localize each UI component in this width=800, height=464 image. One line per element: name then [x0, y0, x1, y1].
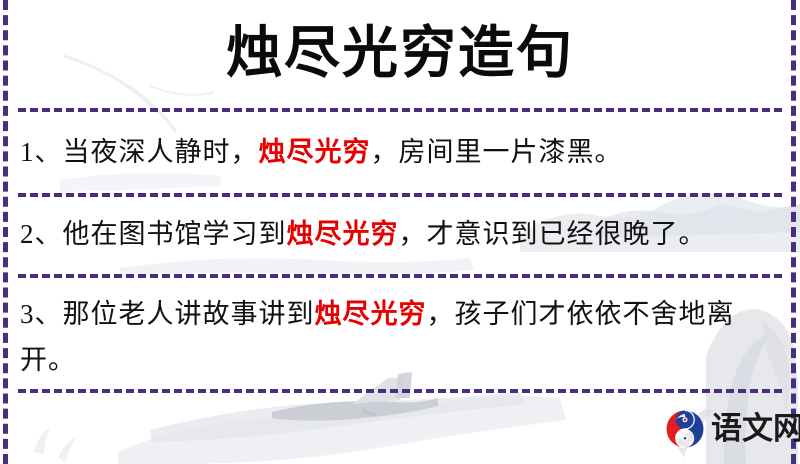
keyword-highlight-3: 烛尽光穷: [315, 299, 427, 329]
page-title: 烛尽光穷造句: [0, 18, 800, 88]
sentence-card-page: 烛尽光穷造句 1、当夜深人静时，烛尽光穷，房间里一片漆黑。 2、他在图书馆学习到…: [0, 0, 800, 464]
divider-rule-4: [18, 389, 782, 393]
sentence-row-3: 3、那位老人讲故事讲到烛尽光穷，孩子们才依依不舍地离开。: [20, 291, 760, 383]
sentence-row-1: 1、当夜深人静时，烛尽光穷，房间里一片漆黑。: [20, 129, 760, 175]
sentence-row-2: 2、他在图书馆学习到烛尽光穷，才意识到已经很晚了。: [20, 211, 760, 257]
keyword-highlight-1: 烛尽光穷: [259, 137, 371, 167]
divider-rule-2: [18, 193, 782, 197]
keyword-highlight-2: 烛尽光穷: [287, 219, 399, 249]
site-logo-text: 语文网: [711, 414, 800, 445]
divider-rule-3: [18, 274, 782, 278]
sentence-text-after-1: ，房间里一片漆黑。: [371, 137, 623, 167]
sentence-index-3: 3、: [20, 299, 63, 329]
sentence-text-before-3: 那位老人讲故事讲到: [63, 299, 315, 329]
sentence-index-1: 1、: [20, 137, 63, 167]
sentence-index-2: 2、: [20, 219, 63, 249]
sentence-text-before-2: 他在图书馆学习到: [63, 219, 287, 249]
sentence-text-after-2: ，才意识到已经很晚了。: [399, 219, 707, 249]
taiji-fish-icon: [664, 408, 706, 450]
divider-rule-1: [18, 108, 782, 112]
site-logo[interactable]: 语文网: [664, 408, 800, 450]
sentence-text-before-1: 当夜深人静时，: [63, 137, 259, 167]
